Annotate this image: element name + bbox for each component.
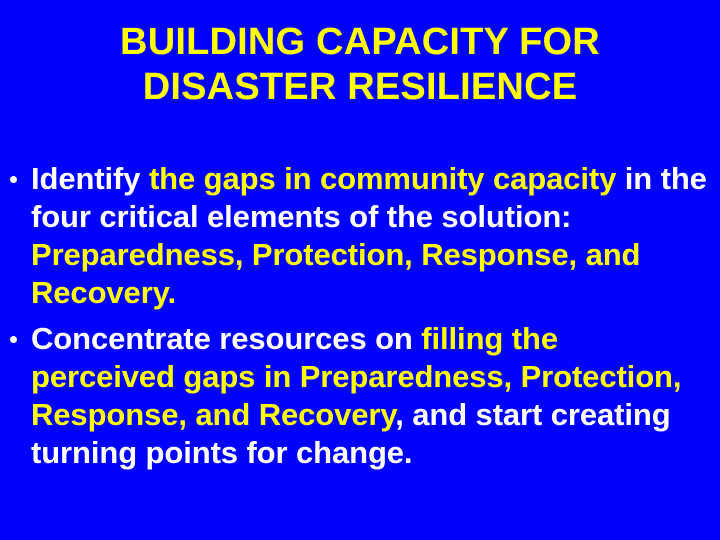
bullet-list-item: Identify the gaps in community capacity … — [0, 160, 720, 312]
bullet-item-text: Identify the gaps in community capacity … — [31, 160, 710, 312]
bullet-item-text: Concentrate resources on filling the per… — [31, 320, 710, 472]
slide-body: Identify the gaps in community capacity … — [0, 160, 720, 480]
slide-title: BUILDING CAPACITY FOR DISASTER RESILIENC… — [0, 20, 720, 110]
slide-title-line-2: DISASTER RESILIENCE — [0, 65, 720, 110]
text-run-1: the gaps in community capacity — [149, 161, 625, 196]
bullet-dot-icon — [10, 336, 17, 343]
text-run-3: Preparedness, Protection, Response, and … — [31, 237, 640, 310]
text-run-0: Identify — [31, 161, 149, 196]
bullet-list-item: Concentrate resources on filling the per… — [0, 320, 720, 472]
slide-title-line-1: BUILDING CAPACITY FOR — [0, 20, 720, 65]
bullet-dot-icon — [10, 176, 17, 183]
presentation-slide: BUILDING CAPACITY FOR DISASTER RESILIENC… — [0, 0, 720, 540]
text-run-0: Concentrate resources on — [31, 321, 421, 356]
